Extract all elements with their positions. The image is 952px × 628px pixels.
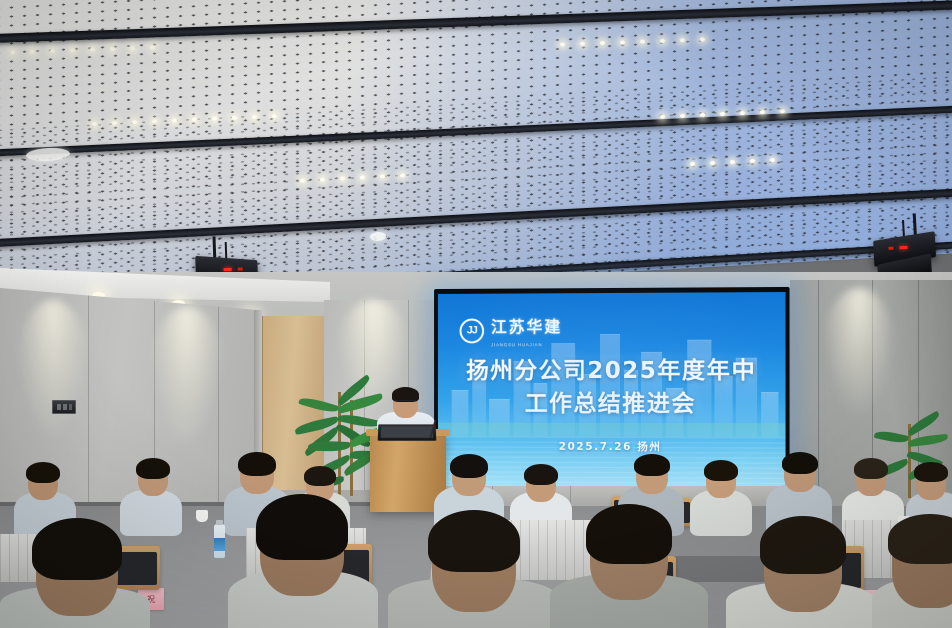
attendee-hair [782, 452, 818, 474]
screen-date-location: 2025.7.26 扬州 [438, 439, 786, 455]
glasses-icon [394, 400, 417, 406]
wall-wash-light [150, 306, 224, 446]
attendee-hair [32, 518, 122, 580]
attendee-hair [634, 454, 670, 476]
attendee-hair [238, 452, 276, 476]
logo-company-name-cn: 江苏华建 [491, 313, 562, 337]
logo-company-name-en: JIANGSU HUAJIAN [491, 342, 562, 347]
wall-wash-light [822, 288, 896, 418]
attendee-hair [450, 454, 488, 478]
screen-title: 扬州分公司2025年度年中 工作总结推进会 [438, 355, 786, 421]
paper-cup[interactable] [196, 510, 208, 522]
attendee-hair [914, 462, 948, 482]
attendee-hair [854, 458, 888, 479]
attendee-hair [704, 460, 738, 481]
screen-title-line1: 扬州分公司2025年度年中 [438, 355, 786, 388]
conference-room-photo: JJ 江苏华建 JIANGSU HUAJIAN 扬州分公司2025年度年中 工作… [0, 0, 952, 628]
attendee-hair [136, 458, 170, 479]
logo-mark-icon: JJ [460, 318, 485, 343]
screen-title-line2: 工作总结推进会 [438, 388, 786, 421]
attendee-torso [120, 490, 182, 536]
attendee-hair [26, 462, 60, 483]
attendee-hair [428, 510, 520, 572]
attendee-hair [760, 516, 846, 574]
attendee-hair [888, 514, 952, 564]
wall-control-panel[interactable] [52, 400, 76, 414]
screen-content: JJ 江苏华建 JIANGSU HUAJIAN 扬州分公司2025年度年中 工作… [438, 292, 786, 488]
water-bottle[interactable] [214, 524, 225, 558]
company-logo: JJ 江苏华建 JIANGSU HUAJIAN [460, 313, 563, 347]
attendee-hair [524, 464, 558, 485]
attendee-hair [256, 494, 348, 560]
attendee-hair [586, 504, 672, 564]
wall-wash-light [16, 300, 90, 440]
attendee-hair [304, 466, 336, 486]
presenter-laptop [378, 424, 437, 440]
